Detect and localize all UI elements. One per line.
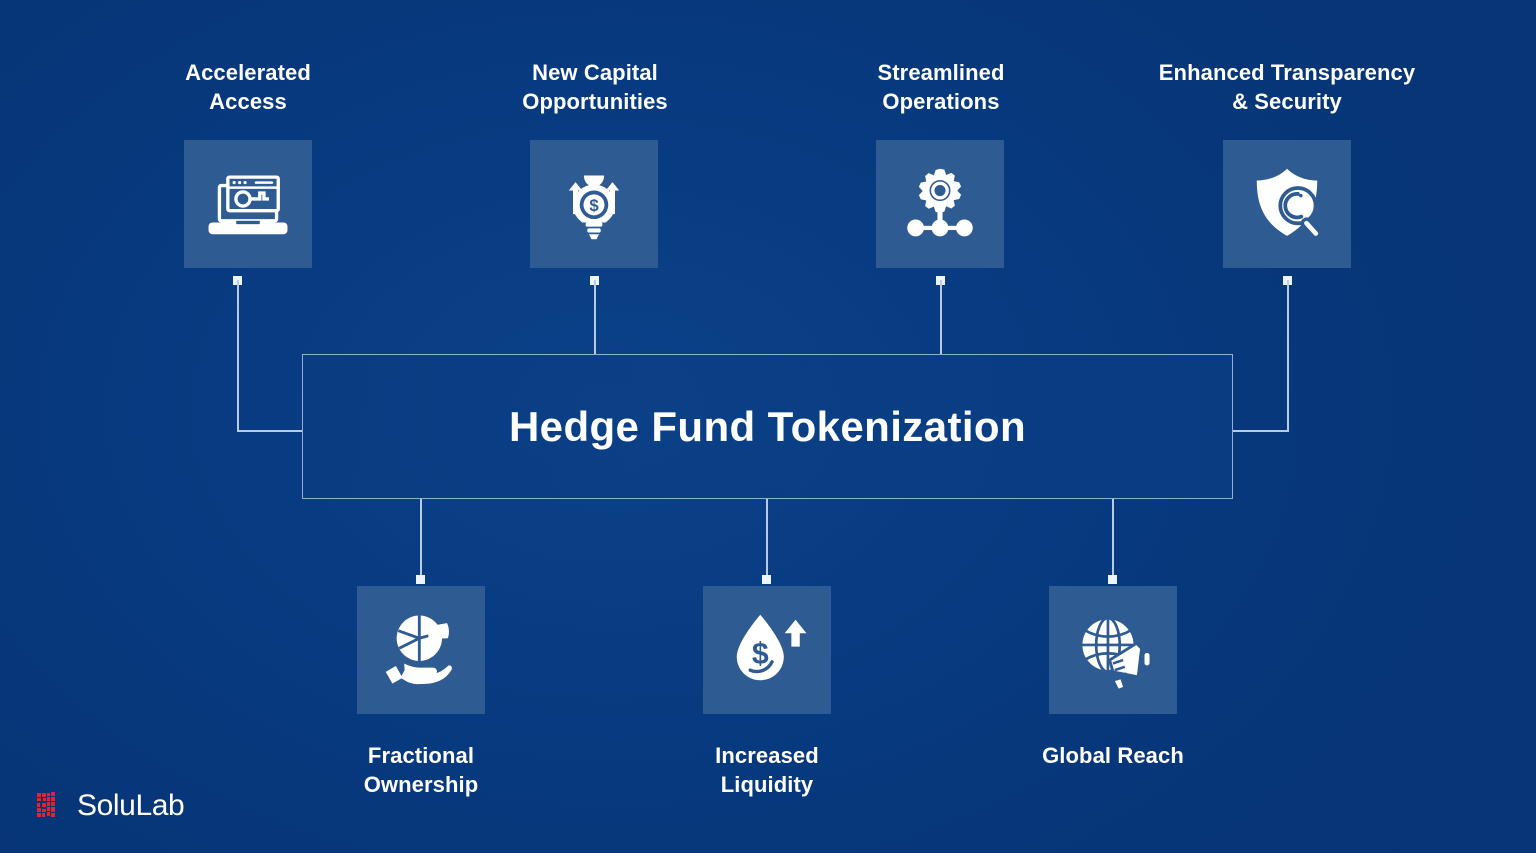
connector-dot-fractional-ownership	[416, 575, 425, 584]
connector-horizontal-accelerated-access	[237, 430, 303, 432]
connector-dot-global-reach	[1108, 575, 1117, 584]
hand-pie-chart-icon	[379, 608, 463, 692]
money-bag-lightbulb-dollar-arrows-icon: $	[552, 162, 636, 246]
connector-vertical-fractional-ownership	[420, 499, 422, 577]
gear-network-nodes-icon	[898, 162, 982, 246]
icon-tile-new-capital-opportunities: $	[530, 140, 658, 268]
shield-magnifier-icon	[1245, 162, 1329, 246]
icon-tile-enhanced-transparency-security	[1223, 140, 1351, 268]
node-label-accelerated-access: Accelerated Access	[88, 58, 408, 116]
connector-vertical-increased-liquidity	[766, 499, 768, 577]
solulab-logo: SoluLab	[36, 789, 184, 823]
laptop-key-icon	[206, 162, 290, 246]
connector-horizontal-enhanced-transparency	[1233, 430, 1289, 432]
solulab-logo-text: SoluLab	[77, 789, 184, 823]
svg-text:$: $	[752, 637, 769, 670]
central-concept-title: Hedge Fund Tokenization	[509, 403, 1026, 451]
connector-vertical-new-capital-opportunities	[594, 280, 596, 355]
diagram-canvas: Hedge Fund Tokenization Accelerated Acce…	[0, 0, 1536, 853]
node-label-fractional-ownership: Fractional Ownership	[261, 741, 581, 799]
connector-vertical-streamlined-operations	[940, 280, 942, 355]
node-label-enhanced-transparency-security: Enhanced Transparency & Security	[1127, 58, 1447, 116]
svg-text:$: $	[589, 196, 599, 215]
solulab-pixel-mark-icon	[36, 791, 66, 821]
connector-vertical-accelerated-access	[237, 280, 239, 431]
node-label-global-reach: Global Reach	[953, 741, 1273, 770]
icon-tile-accelerated-access	[184, 140, 312, 268]
connector-vertical-enhanced-transparency	[1287, 280, 1289, 431]
droplet-dollar-arrow-up-icon: $	[725, 608, 809, 692]
icon-tile-fractional-ownership	[357, 586, 485, 714]
globe-megaphone-icon	[1071, 608, 1155, 692]
connector-vertical-global-reach	[1112, 499, 1114, 577]
icon-tile-global-reach	[1049, 586, 1177, 714]
node-label-new-capital-opportunities: New Capital Opportunities	[435, 58, 755, 116]
node-label-increased-liquidity: Increased Liquidity	[607, 741, 927, 799]
connector-dot-increased-liquidity	[762, 575, 771, 584]
node-label-streamlined-operations: Streamlined Operations	[781, 58, 1101, 116]
central-concept-box: Hedge Fund Tokenization	[302, 354, 1233, 499]
icon-tile-streamlined-operations	[876, 140, 1004, 268]
icon-tile-increased-liquidity: $	[703, 586, 831, 714]
